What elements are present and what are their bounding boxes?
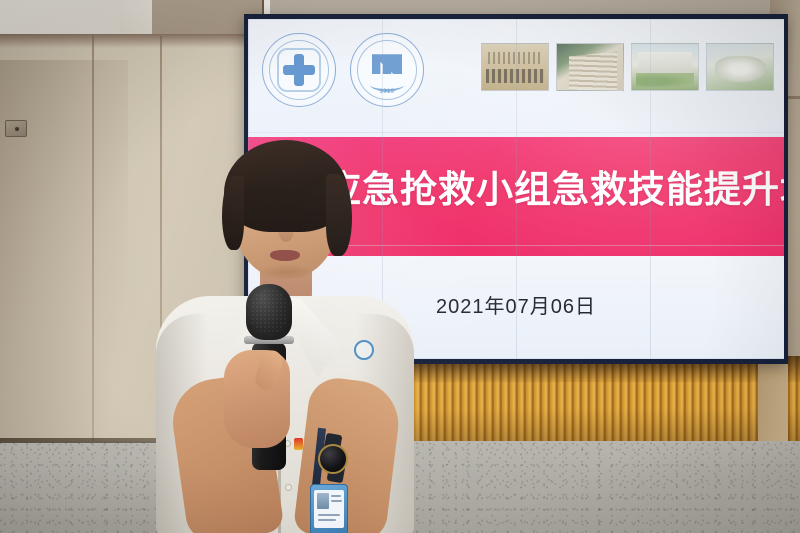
wristwatch-icon — [318, 444, 348, 474]
microphone-icon[interactable] — [246, 284, 292, 340]
party-pin-icon — [294, 438, 303, 450]
aerial-campus-view-photo — [706, 43, 774, 91]
wall-panel-seam — [92, 36, 94, 488]
old-hospital-building-photo — [556, 43, 624, 91]
historical-photo-strip — [481, 43, 774, 91]
historical-group-photo — [481, 43, 549, 91]
wood-panel-end-cap — [758, 356, 788, 442]
logo-group: 1919 — [262, 33, 424, 107]
medical-school-seal-icon: 1919 — [350, 33, 424, 107]
wall-switch-icon[interactable] — [5, 120, 27, 137]
right-wall-seam — [786, 96, 800, 99]
id-badge-card — [314, 490, 344, 528]
chin-shadow — [256, 264, 316, 280]
seal-year-label: 1919 — [380, 89, 395, 95]
speaker-person — [150, 128, 420, 533]
id-badge-text-line — [331, 495, 341, 497]
id-badge-text-line — [318, 519, 336, 521]
shoulder-patch-icon — [354, 340, 374, 360]
id-badge — [310, 484, 348, 533]
id-badge-text-line — [318, 514, 340, 516]
hair-side-right — [326, 174, 352, 256]
mouth — [270, 250, 300, 261]
modern-hospital-campus-photo — [631, 43, 699, 91]
id-badge-text-line — [331, 500, 342, 502]
presentation-scene: 1919 护理应急抢救小组急救技能提升培训 2021年07月06日 — [0, 0, 800, 533]
hospital-cross-emblem-icon — [262, 33, 336, 107]
id-badge-photo — [317, 493, 329, 509]
hair-side-left — [222, 176, 244, 250]
coat-button — [285, 484, 292, 491]
